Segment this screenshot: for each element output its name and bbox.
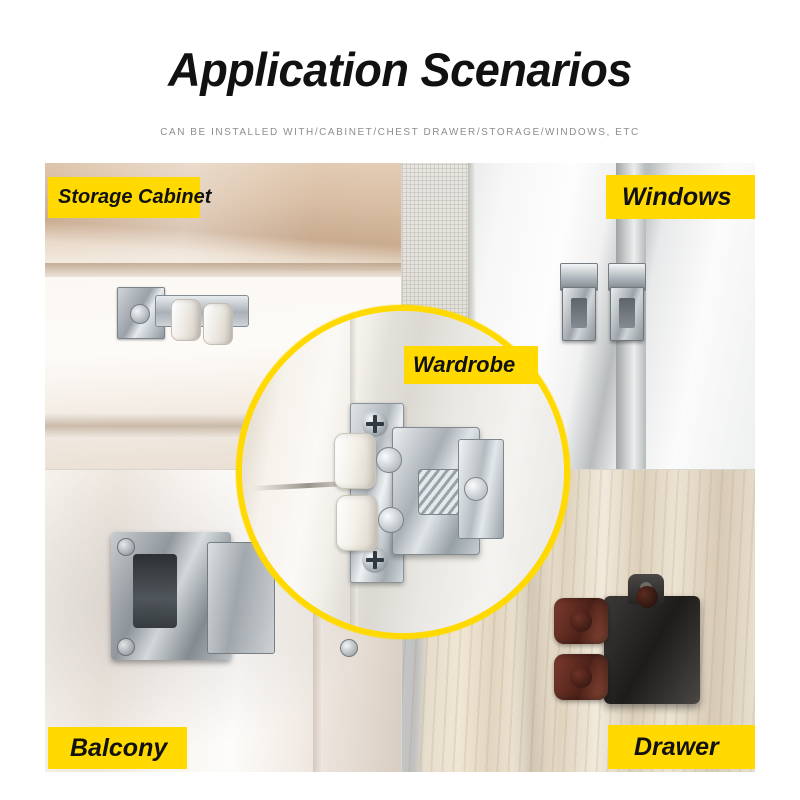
wardrobe-roller-catch (334, 403, 514, 583)
infographic-page: Application Scenarios CAN BE INSTALLED W… (0, 0, 800, 800)
catch-roller-upper (334, 433, 376, 489)
catch-body (610, 287, 644, 341)
catch-body (562, 287, 596, 341)
label-drawer: Drawer (608, 725, 755, 769)
catch-roller-screw-lower (570, 666, 592, 688)
catch-rivet (464, 477, 488, 501)
catch-roller-left (171, 299, 201, 341)
catch-roller-screw-lower (378, 507, 404, 533)
catch-top-screw (636, 586, 658, 608)
cabinet-shelf-edge (45, 263, 401, 277)
window-catch-right (606, 263, 646, 343)
label-storage-cabinet: Storage Cabinet (48, 177, 200, 218)
catch-roller-screw-upper (570, 610, 592, 632)
roller-catch-hardware (117, 281, 249, 349)
catch-roller-lower (336, 495, 378, 551)
catch-black-housing (604, 596, 700, 704)
window-catch-left (558, 263, 598, 343)
catch-roller-right (203, 303, 233, 345)
label-windows: Windows (606, 175, 755, 219)
catch-body-bar (155, 295, 249, 327)
catch-roller-screw-upper (376, 447, 402, 473)
label-balcony: Balcony (48, 727, 187, 769)
page-title: Application Scenarios (16, 42, 784, 97)
label-wardrobe: Wardrobe (404, 346, 538, 384)
page-subtitle: CAN BE INSTALLED WITH/CABINET/CHEST DRAW… (0, 127, 800, 138)
